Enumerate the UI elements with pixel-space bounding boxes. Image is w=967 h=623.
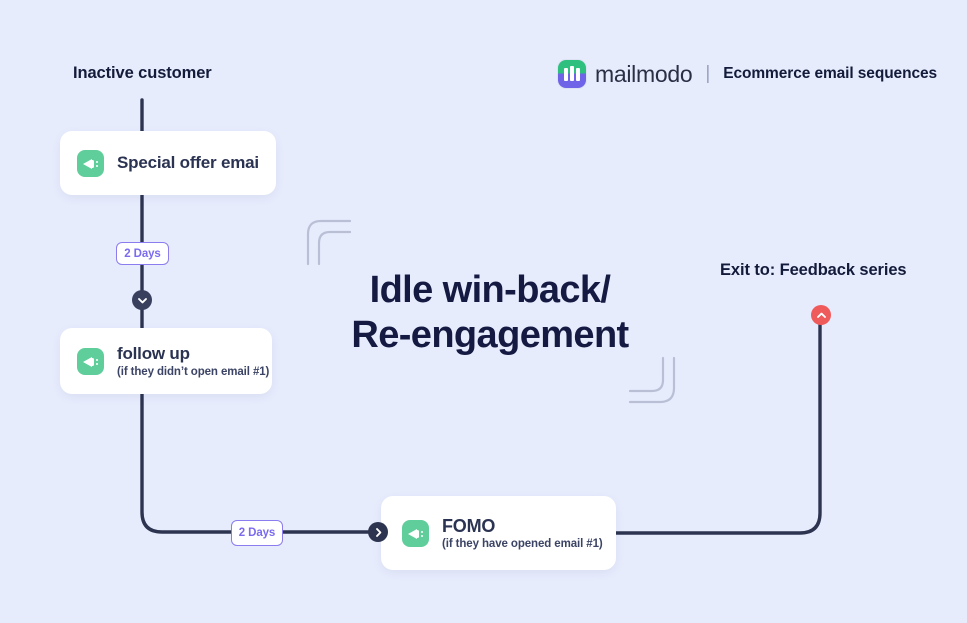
flow-card-title: FOMO	[442, 516, 603, 536]
wire-follow-to-delay2	[142, 394, 231, 532]
flow-card-text: Special offer emai	[117, 153, 259, 173]
exit-label: Exit to: Feedback series	[720, 261, 907, 280]
flow-card-text: follow up (if they didn’t open email #1)	[117, 344, 269, 379]
brand-separator: |	[705, 63, 710, 85]
brand-tagline: Ecommerce email sequences	[723, 65, 937, 83]
flow-card-follow-up[interactable]: follow up (if they didn’t open email #1)	[60, 328, 272, 394]
brand-name: mailmodo	[595, 61, 692, 88]
megaphone-icon	[402, 520, 429, 547]
page-title-line-2: Re-engagement	[302, 313, 678, 358]
chevron-down-icon[interactable]	[132, 290, 152, 310]
page-title-line-1: Idle win-back/	[302, 268, 678, 313]
decorative-corner-top-left	[306, 218, 356, 266]
chevron-right-icon[interactable]	[368, 522, 388, 542]
chevron-up-icon[interactable]	[811, 305, 831, 325]
flow-card-title: follow up	[117, 344, 269, 364]
megaphone-icon	[77, 150, 104, 177]
flow-card-title: Special offer emai	[117, 153, 259, 173]
flow-card-text: FOMO (if they have opened email #1)	[442, 516, 603, 551]
page-title: Idle win-back/ Re-engagement	[302, 268, 678, 358]
megaphone-icon	[77, 348, 104, 375]
flow-canvas: mailmodo | Ecommerce email sequences Idl…	[0, 0, 967, 623]
start-label: Inactive customer	[73, 64, 212, 83]
mailmodo-logo-icon	[558, 60, 586, 88]
flow-card-subtitle: (if they didn’t open email #1)	[117, 365, 269, 379]
brand-header: mailmodo | Ecommerce email sequences	[558, 60, 937, 88]
flow-card-special-offer[interactable]: Special offer emai	[60, 131, 276, 195]
delay-badge-1[interactable]: 2 Days	[116, 242, 169, 265]
flow-card-subtitle: (if they have opened email #1)	[442, 537, 603, 551]
delay-badge-2[interactable]: 2 Days	[231, 520, 283, 546]
flow-card-fomo[interactable]: FOMO (if they have opened email #1)	[381, 496, 616, 570]
decorative-corner-bottom-right	[626, 356, 678, 406]
